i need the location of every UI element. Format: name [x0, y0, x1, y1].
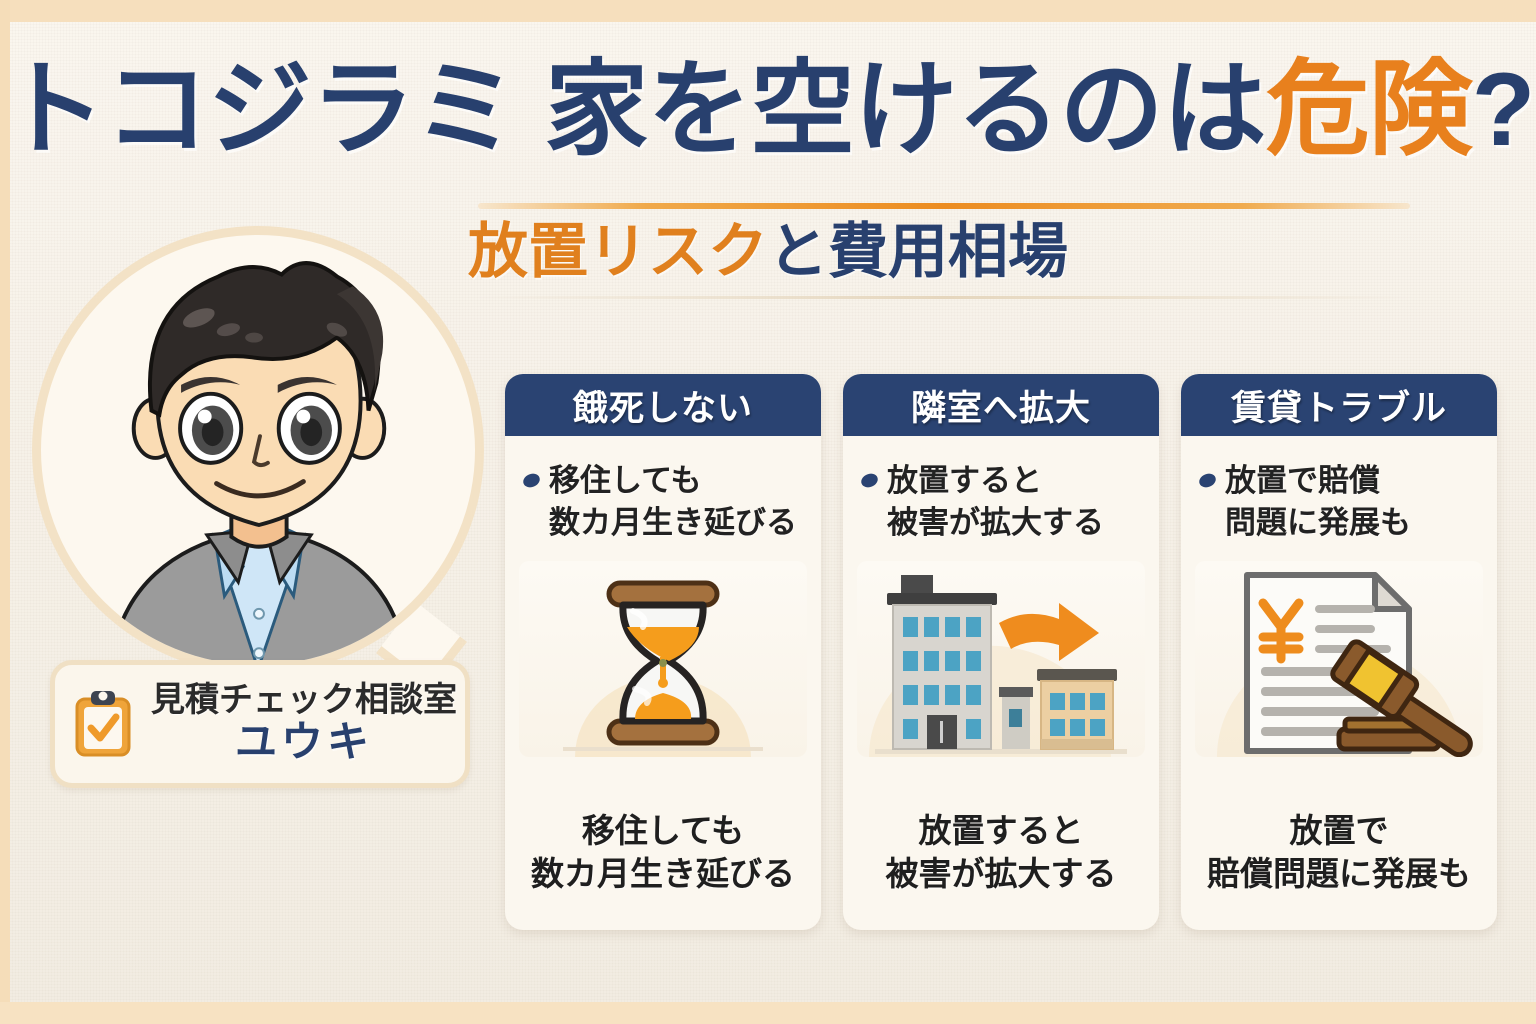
- title-part-3-highlight: 危険: [1266, 52, 1472, 168]
- card-bullet: 放置すると 被害が拡大する: [843, 436, 1159, 549]
- title-question-mark: ?: [1472, 52, 1535, 168]
- risk-card-list: 餓死しない 移住しても 数カ月生き延びる: [505, 374, 1497, 930]
- card-bullet-text: 放置で賠償 問題に発展も: [1225, 460, 1411, 543]
- card-caption: 放置すると 被害が拡大する: [843, 810, 1159, 930]
- infographic-canvas: トコジラミ 家を空けるのは危険? 放置リスクと費用相場: [0, 0, 1536, 1024]
- subtitle-part-2: と費用相場: [768, 218, 1068, 285]
- avatar: [32, 226, 484, 674]
- card-illustration: [1195, 561, 1483, 757]
- title-part-1: トコジラミ: [2, 52, 517, 168]
- card-header-bar: 隣室へ拡大: [843, 374, 1159, 436]
- risk-card-spread[interactable]: 隣室へ拡大 放置すると 被害が拡大する: [843, 374, 1159, 930]
- bullet-line-2: 数カ月生き延びる: [549, 505, 797, 540]
- bullet-line-2: 問題に発展も: [1225, 505, 1411, 540]
- bullet-dot-icon: [1197, 471, 1218, 489]
- bullet-line-2: 被害が拡大する: [887, 505, 1104, 540]
- top-border-strip: [0, 0, 1536, 22]
- clipboard-check-icon: [71, 689, 135, 759]
- card-header-label: 賃貸トラブル: [1231, 380, 1447, 431]
- bullet-line-1: 移住しても: [549, 463, 702, 498]
- bottom-border-strip: [0, 1002, 1536, 1024]
- buildings-spread-arrow-icon: [857, 561, 1145, 757]
- card-caption: 移住しても 数カ月生き延びる: [505, 810, 821, 930]
- caption-line-2: 賠償問題に発展も: [1207, 855, 1471, 892]
- card-header-label: 餓死しない: [573, 380, 753, 431]
- caption-line-2: 被害が拡大する: [886, 855, 1117, 892]
- nameplate-role: 見積チェック相談室: [151, 683, 457, 719]
- avatar-frame: [32, 226, 484, 674]
- page-title: トコジラミ 家を空けるのは危険?: [0, 58, 1536, 162]
- card-bullet: 放置で賠償 問題に発展も: [1181, 436, 1497, 549]
- caption-line-1: 放置で: [1290, 812, 1389, 849]
- caption-line-1: 移住しても: [582, 812, 744, 849]
- nameplate-name: ユウキ: [235, 719, 373, 765]
- card-header-bar: 賃貸トラブル: [1181, 374, 1497, 436]
- card-illustration: [519, 561, 807, 757]
- bullet-line-1: 放置すると: [887, 463, 1042, 498]
- consultant-illustration-svg: [41, 235, 475, 669]
- nameplate: 見積チェック相談室 ユウキ: [50, 660, 470, 788]
- card-header-label: 隣室へ拡大: [911, 380, 1091, 431]
- card-bullet-text: 移住しても 数カ月生き延びる: [549, 460, 797, 543]
- bullet-line-1: 放置で賠償: [1225, 463, 1380, 498]
- document-yen-gavel-icon: [1195, 561, 1483, 757]
- title-part-2: 家を空けるのは: [545, 52, 1266, 168]
- card-bullet-text: 放置すると 被害が拡大する: [887, 460, 1104, 543]
- risk-card-starvation[interactable]: 餓死しない 移住しても 数カ月生き延びる: [505, 374, 821, 930]
- title-spacer: [517, 52, 545, 168]
- caption-line-2: 数カ月生き延びる: [531, 855, 795, 892]
- hourglass-icon: [519, 561, 807, 757]
- card-bullet: 移住しても 数カ月生き延びる: [505, 436, 821, 549]
- nameplate-text: 見積チェック相談室 ユウキ: [143, 683, 465, 765]
- card-illustration: [857, 561, 1145, 757]
- card-header-bar: 餓死しない: [505, 374, 821, 436]
- subtitle-divider-rule: [478, 296, 1410, 299]
- risk-card-rental-trouble[interactable]: 賃貸トラブル 放置で賠償 問題に発展も: [1181, 374, 1497, 930]
- subtitle-part-1-highlight: 放置リスク: [468, 218, 768, 285]
- bullet-dot-icon: [859, 471, 880, 489]
- caption-line-1: 放置すると: [919, 812, 1084, 849]
- title-divider-rule: [478, 203, 1410, 209]
- bullet-dot-icon: [521, 471, 542, 489]
- card-caption: 放置で 賠償問題に発展も: [1181, 810, 1497, 930]
